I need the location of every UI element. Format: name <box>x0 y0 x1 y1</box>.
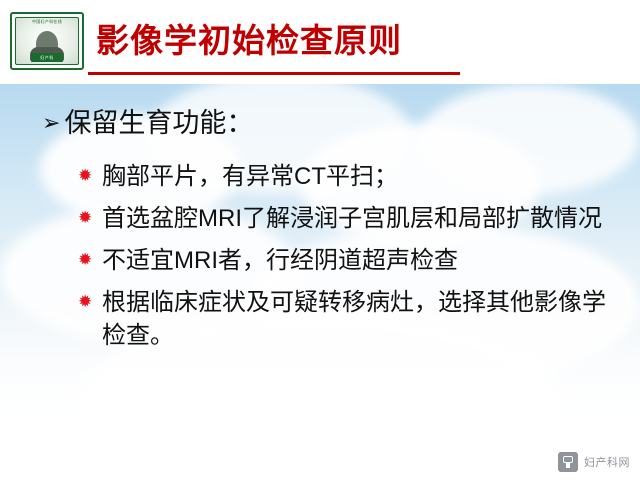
slide-header: 中国妇产科在线 妇产科 影像学初始检查原则 <box>0 0 640 84</box>
logo-inner-frame: 中国妇产科在线 妇产科 <box>15 17 79 65</box>
list-item-label: 首选盆腔MRI了解浸润子宫肌层和局部扩散情况 <box>102 202 602 235</box>
list-item: ✹ 胸部平片，有异常CT平扫； <box>78 160 618 193</box>
list-item: ✹ 首选盆腔MRI了解浸润子宫肌层和局部扩散情况 <box>78 202 618 235</box>
list-item-label: 胸部平片，有异常CT平扫； <box>102 160 398 193</box>
logo-arc-text: 中国妇产科在线 <box>16 19 78 25</box>
list-item: ✹ 不适宜MRI者，行经阴道超声检查 <box>78 244 618 277</box>
title-underline <box>88 72 460 75</box>
watermark-label: 妇产科网 <box>584 454 630 470</box>
page-title: 影像学初始检查原则 <box>96 14 402 62</box>
organization-logo: 中国妇产科在线 妇产科 <box>10 12 84 70</box>
slide-content: ➢ 保留生育功能： ✹ 胸部平片，有异常CT平扫； ✹ 首选盆腔MRI了解浸润子… <box>0 84 640 480</box>
arrow-bullet-icon: ➢ <box>42 106 60 140</box>
list-item: ✹ 根据临床症状及可疑转移病灶，选择其他影像学检查。 <box>78 286 618 352</box>
slide: 中国妇产科在线 妇产科 影像学初始检查原则 ➢ 保留生育功能： ✹ 胸部平片，有… <box>0 0 640 480</box>
asterisk-bullet-icon: ✹ <box>78 208 102 228</box>
watermark: 妇产科网 <box>558 452 630 472</box>
lead-item-label: 保留生育功能： <box>64 106 253 140</box>
list-item-label: 不适宜MRI者，行经阴道超声检查 <box>102 244 458 277</box>
lead-item: ➢ 保留生育功能： <box>42 106 253 140</box>
bullet-list: ✹ 胸部平片，有异常CT平扫； ✹ 首选盆腔MRI了解浸润子宫肌层和局部扩散情况… <box>78 160 618 361</box>
asterisk-bullet-icon: ✹ <box>78 166 102 186</box>
asterisk-bullet-icon: ✹ <box>78 292 102 312</box>
watermark-logo-icon <box>558 452 578 472</box>
list-item-label: 根据临床症状及可疑转移病灶，选择其他影像学检查。 <box>102 286 618 352</box>
asterisk-bullet-icon: ✹ <box>78 250 102 270</box>
logo-base-text: 妇产科 <box>31 53 63 62</box>
